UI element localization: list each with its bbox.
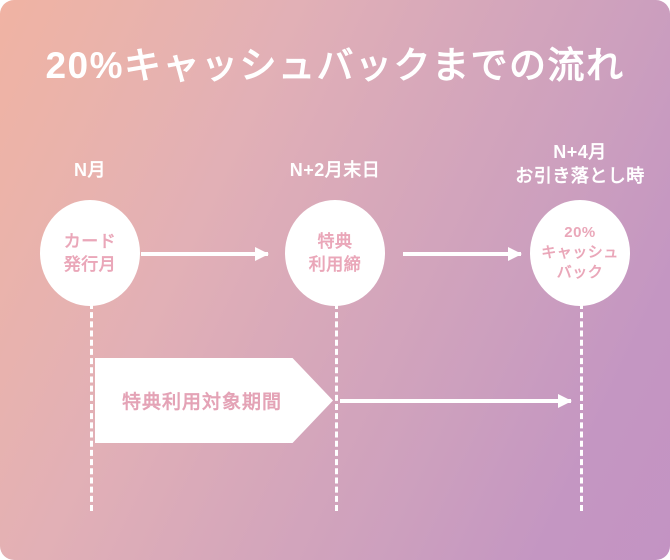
flow-arrow-1 <box>141 247 268 261</box>
benefit-period-label: 特典利用対象期間 <box>95 387 282 414</box>
flow-arrow-2-shaft <box>403 252 521 256</box>
flow-arrow-2 <box>403 247 521 261</box>
step-label-1: N月 <box>0 158 180 182</box>
step-label-3-line-1: N+4月 <box>490 140 670 164</box>
step-label-3-line-2: お引き落とし時 <box>490 164 670 188</box>
step-node-1-line-1: カード <box>64 230 117 253</box>
timeline-guide-2 <box>335 303 338 511</box>
arrow-head-icon <box>255 247 269 261</box>
step-node-3-line-1: 20% <box>564 223 596 243</box>
period-continuation-arrow-shaft <box>340 399 571 403</box>
step-label-2: N+2月末日 <box>245 158 425 182</box>
step-node-1-line-2: 発行月 <box>64 253 117 276</box>
arrow-head-icon <box>558 394 572 408</box>
flow-arrow-1-shaft <box>141 252 268 256</box>
timeline-guide-1 <box>90 303 93 511</box>
diagram-title: 20%キャッシュバックまでの流れ <box>0 44 670 88</box>
step-label-3: N+4月 お引き落とし時 <box>490 140 670 188</box>
period-continuation-arrow <box>340 394 571 408</box>
step-node-3-line-2: キャッシュ <box>541 243 619 263</box>
arrow-head-icon <box>508 247 522 261</box>
step-node-3-line-3: バック <box>557 263 604 283</box>
step-node-cashback: 20% キャッシュ バック <box>530 200 630 306</box>
step-label-1-line-1: N月 <box>0 158 180 182</box>
step-label-2-line-1: N+2月末日 <box>245 158 425 182</box>
cashback-flow-diagram: 20%キャッシュバックまでの流れ N月 N+2月末日 N+4月 お引き落とし時 … <box>0 0 670 560</box>
timeline-guide-3 <box>580 303 583 511</box>
step-node-2-line-1: 特典 <box>318 230 353 253</box>
benefit-period-banner: 特典利用対象期間 <box>95 358 333 443</box>
step-node-benefit-deadline: 特典 利用締 <box>285 200 385 306</box>
step-node-card-issue: カード 発行月 <box>40 200 140 306</box>
step-node-2-line-2: 利用締 <box>309 253 362 276</box>
